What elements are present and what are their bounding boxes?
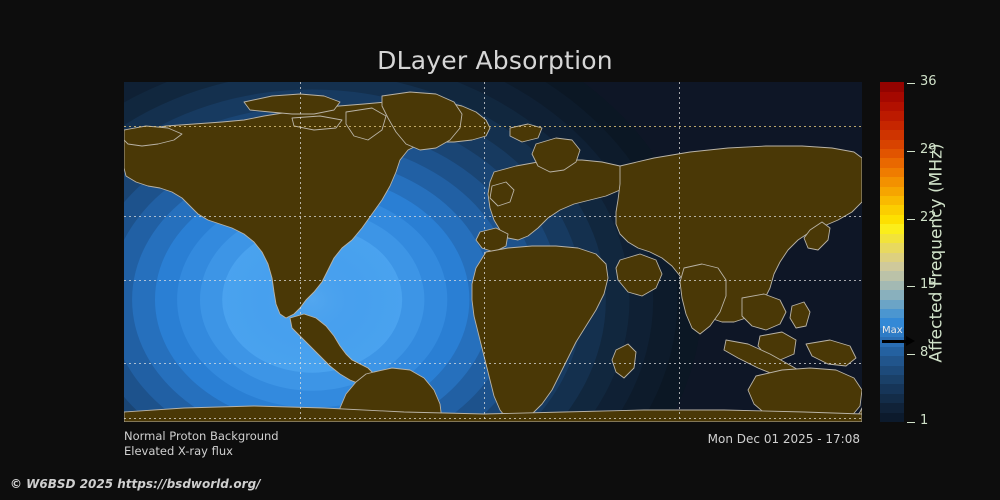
colorbar-band — [880, 393, 904, 403]
colorbar-tick-line — [907, 83, 915, 84]
colorbar-tick-line — [907, 422, 915, 423]
colorbar-band — [880, 92, 904, 102]
colorbar-band — [880, 384, 904, 394]
colorbar-band — [880, 290, 904, 300]
copyright-footer: © W6BSD 2025 https://bsdworld.org/ — [10, 477, 261, 491]
colorbar-band — [880, 233, 904, 243]
colorbar-band — [880, 195, 904, 205]
page-title: DLayer Absorption — [0, 46, 990, 75]
colorbar-tick-line — [907, 219, 915, 220]
colorbar-band — [880, 308, 904, 318]
colorbar-max-marker: Max — [880, 325, 926, 351]
colorbar-band — [880, 186, 904, 196]
colorbar-band — [880, 403, 904, 413]
colorbar-band — [880, 224, 904, 234]
colorbar-axis-label-text: Affected Frequency (MHz) — [927, 143, 947, 362]
colorbar-band — [880, 214, 904, 224]
colorbar-band — [880, 365, 904, 375]
colorbar-gradient — [880, 83, 904, 422]
status-notes: Normal Proton Background Elevated X-ray … — [124, 429, 279, 459]
colorbar-band — [880, 177, 904, 187]
max-marker-arrow-shaft — [882, 340, 908, 343]
colorbar-tick: 1 — [904, 422, 964, 423]
max-marker-label: Max — [882, 325, 903, 336]
colorbar-band — [880, 158, 904, 168]
note-xray-flux: Elevated X-ray flux — [124, 444, 279, 459]
colorbar-band — [880, 412, 904, 422]
colorbar-band — [880, 120, 904, 130]
max-marker-arrow-head — [906, 336, 915, 346]
colorbar-band — [880, 148, 904, 158]
note-proton-background: Normal Proton Background — [124, 429, 279, 444]
colorbar-band — [880, 252, 904, 262]
colorbar-band — [880, 101, 904, 111]
colorbar-band — [880, 111, 904, 121]
timestamp: Mon Dec 01 2025 - 17:08 — [708, 432, 860, 446]
colorbar-band — [880, 261, 904, 271]
colorbar-band — [880, 271, 904, 281]
colorbar[interactable]: 1815222936 Max — [880, 83, 904, 422]
colorbar-tick-line — [907, 354, 915, 355]
colorbar-tick-line — [907, 286, 915, 287]
colorbar-band — [880, 129, 904, 139]
colorbar-tick-line — [907, 151, 915, 152]
colorbar-band — [880, 299, 904, 309]
colorbar-band — [880, 139, 904, 149]
colorbar-band — [880, 167, 904, 177]
colorbar-band — [880, 205, 904, 215]
colorbar-band — [880, 82, 904, 92]
colorbar-band — [880, 280, 904, 290]
world-map-panel[interactable] — [124, 82, 862, 422]
world-map-svg — [124, 82, 862, 422]
colorbar-band — [880, 242, 904, 252]
colorbar-band — [880, 355, 904, 365]
colorbar-axis-label: Affected Frequency (MHz) — [925, 83, 949, 422]
colorbar-band — [880, 374, 904, 384]
